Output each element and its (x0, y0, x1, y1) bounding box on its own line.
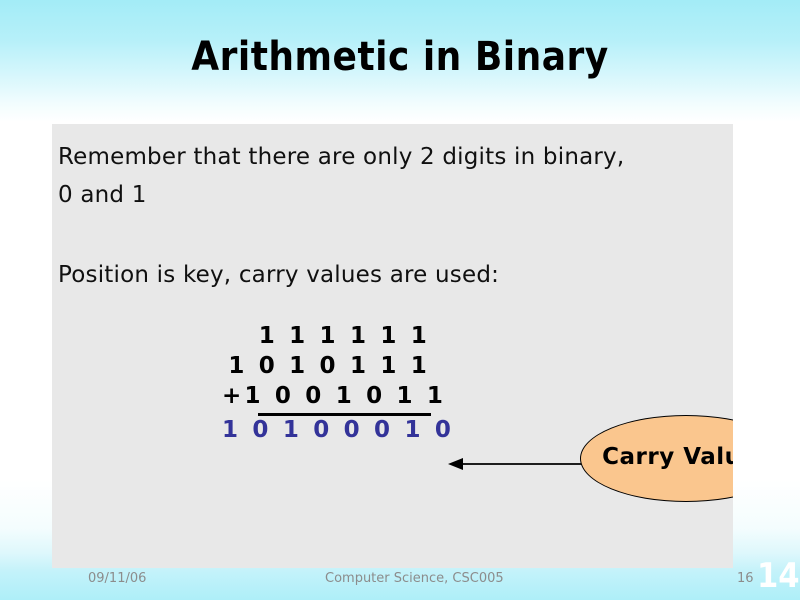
footer-date: 09/11/06 (88, 571, 146, 586)
slide-canvas: Arithmetic in Binary Remember that there… (0, 0, 800, 600)
operand-row-2: +1 0 0 1 0 1 1 (222, 383, 462, 413)
callout-label: Carry Values (581, 444, 733, 470)
content-panel: Remember that there are only 2 digits in… (52, 124, 733, 568)
footer-slide-count: 16 (737, 571, 754, 586)
body-text-line-2: 0 and 1 (58, 182, 147, 208)
binary-addition-block: 1 1 1 1 1 1 1 0 1 0 1 1 1 +1 0 0 1 0 1 1… (222, 323, 462, 447)
result-row: 1 0 1 0 0 0 1 0 (222, 413, 462, 447)
carry-row: 1 1 1 1 1 1 (222, 323, 462, 353)
body-text-line-3: Position is key, carry values are used: (58, 262, 499, 288)
footer-page-number: 14 (757, 556, 800, 596)
callout-arrow-icon (448, 450, 590, 478)
body-text-line-1: Remember that there are only 2 digits in… (58, 144, 624, 170)
page-title: Arithmetic in Binary (0, 34, 800, 80)
footer-subtitle: Computer Science, CSC005 (325, 571, 504, 586)
operand-row-1: 1 0 1 0 1 1 1 (222, 353, 462, 383)
callout-bubble[interactable]: Carry Values (580, 415, 733, 502)
